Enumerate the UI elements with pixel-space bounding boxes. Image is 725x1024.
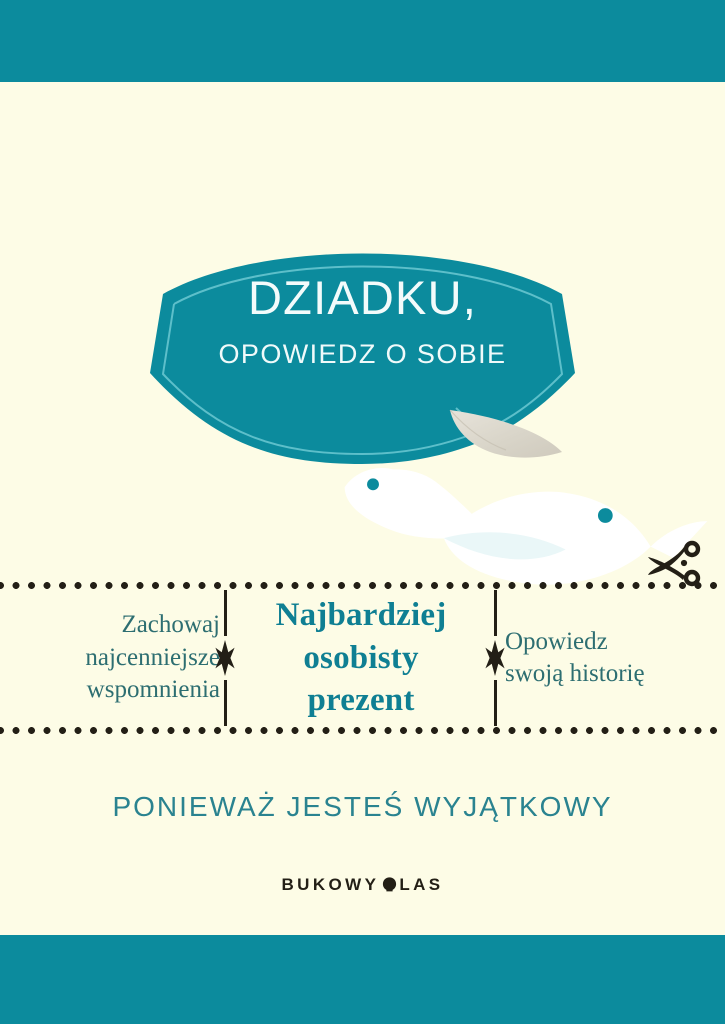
right-line-1: Opowiedz: [505, 626, 608, 659]
star-icon: [484, 636, 506, 680]
star-divider-left: [214, 590, 236, 726]
scissors-icon: [645, 540, 701, 590]
middle-line-3: prezent: [307, 679, 414, 722]
feature-column-left: Zachowaj najcenniejsze wspomnienia: [40, 590, 220, 726]
left-line-3: wspomnienia: [87, 674, 220, 707]
dotted-cut-line-bottom: [0, 726, 725, 735]
publisher-logo: BUKOWY LAS: [0, 876, 725, 893]
book-cover: DZIADKU, OPOWIEDZ O SOBIE: [0, 0, 725, 1024]
star-icon: [214, 636, 236, 680]
feature-strip: Zachowaj najcenniejsze wspomnienia Najba…: [0, 590, 725, 726]
dotted-rule: [0, 726, 725, 735]
top-teal-band: [0, 0, 725, 82]
tagline: PONIEWAŻ JESTEŚ WYJĄTKOWY: [0, 793, 725, 821]
badge-subtitle: OPOWIEDZ O SOBIE: [150, 341, 575, 368]
divider-segment-lower: [224, 680, 227, 726]
title-badge: DZIADKU, OPOWIEDZ O SOBIE: [150, 228, 575, 483]
left-line-1: Zachowaj: [121, 609, 220, 642]
publisher-word-left: BUKOWY: [281, 876, 379, 893]
bottom-teal-band: [0, 935, 725, 1024]
dotted-rule: [0, 581, 725, 590]
badge-title: DZIADKU,: [150, 274, 575, 321]
middle-line-2: osobisty: [303, 637, 418, 680]
middle-line-1: Najbardziej: [276, 594, 447, 637]
feature-column-right: Opowiedz swoją historię: [505, 590, 695, 726]
divider-segment-upper: [224, 590, 227, 636]
tree-icon: [381, 876, 398, 893]
dotted-cut-line-top: [0, 581, 725, 590]
left-line-2: najcenniejsze: [85, 642, 220, 675]
divider-segment-lower: [494, 680, 497, 726]
right-line-2: swoją historię: [505, 658, 645, 691]
publisher-word-right: LAS: [399, 876, 443, 893]
star-divider-right: [484, 590, 506, 726]
feature-column-middle: Najbardziej osobisty prezent: [248, 590, 474, 726]
divider-segment-upper: [494, 590, 497, 636]
